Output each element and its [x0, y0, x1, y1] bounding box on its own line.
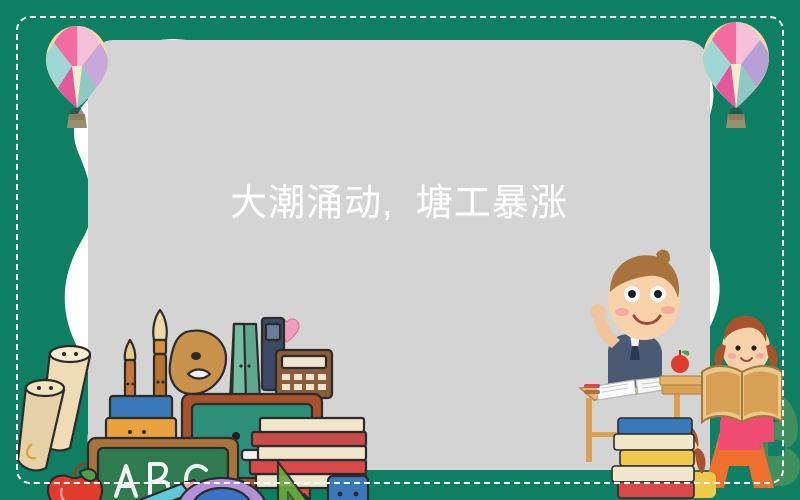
boy-raising-hand — [590, 250, 680, 388]
hot-air-balloon-right-icon — [700, 20, 772, 132]
hot-air-balloon-left-icon — [42, 24, 112, 132]
calculator-brown-icon — [276, 350, 332, 398]
ruler-green-icon — [230, 324, 260, 400]
page-title: 大潮涌动, 塘工暴涨 — [88, 178, 710, 228]
paintbrush-icon — [153, 310, 167, 400]
brush-small-icon — [125, 340, 136, 404]
students-illustration — [578, 236, 800, 500]
book-stack-kids — [612, 418, 694, 498]
palette-icon — [170, 331, 226, 394]
blue-box-icon — [328, 476, 368, 500]
school-supplies-illustration — [10, 296, 370, 500]
girl-reading-book — [702, 316, 782, 450]
poster-canvas: 大潮涌动, 塘工暴涨 — [0, 0, 800, 500]
desk-books — [660, 376, 704, 394]
desk-apple — [671, 350, 689, 373]
